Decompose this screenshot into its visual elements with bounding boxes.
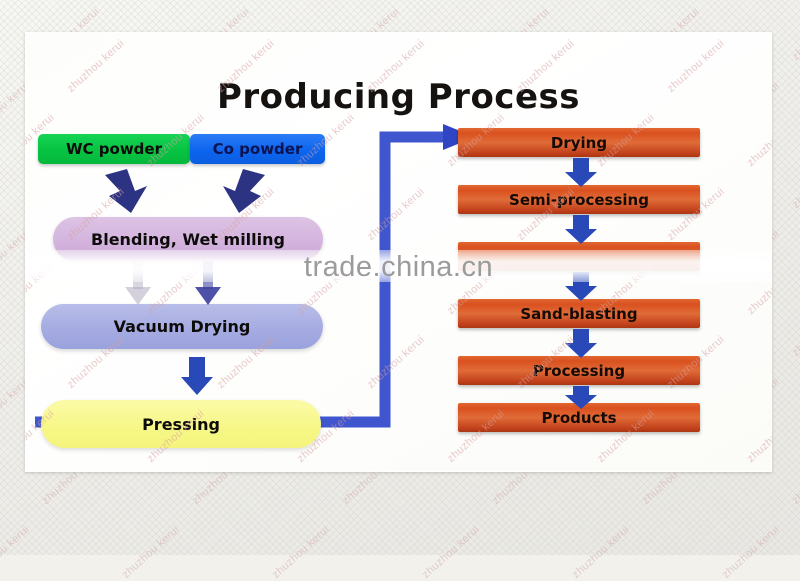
process-box-semi-processing[interactable]: Semi-processing (458, 185, 700, 214)
watermark-tile: zhuzhou kerui (270, 524, 332, 581)
watermark-tile: zhuzhou kerui (790, 302, 800, 359)
watermark-tile: zhuzhou kerui (570, 524, 632, 581)
diagram-board: Producing Process WC powder Co powder Bl… (25, 32, 772, 472)
watermark-tile: zhuzhou kerui (365, 186, 427, 243)
watermark-tile: zhuzhou kerui (790, 6, 800, 63)
watermark-tile: zhuzhou kerui (420, 524, 482, 581)
watermark-tile: zhuzhou kerui (790, 154, 800, 211)
process-box-wc-powder[interactable]: WC powder (38, 134, 190, 164)
process-box-pressing[interactable]: Pressing (41, 400, 321, 448)
process-box-drying[interactable]: Drying (458, 128, 700, 157)
page-title: Producing Process (25, 77, 772, 117)
process-box-co-powder[interactable]: Co powder (190, 134, 325, 164)
image-frame: zhuzhou keruizhuzhou keruizhuzhou keruiz… (0, 0, 800, 555)
watermark-tile: zhuzhou kerui (745, 112, 772, 169)
process-box-vacuum-drying[interactable]: Vacuum Drying (41, 304, 323, 349)
watermark-tile: zhuzhou kerui (365, 334, 427, 391)
process-box-sand-blasting[interactable]: Sand-blasting (458, 299, 700, 328)
watermark-tile: zhuzhou kerui (120, 524, 182, 581)
slanted-down-arrow-icon (101, 169, 155, 217)
watermark-tile: zhuzhou kerui (720, 524, 782, 581)
process-box-processing[interactable]: Processing (458, 356, 700, 385)
watermark-band-text: trade.china.cn (25, 251, 772, 284)
watermark-tile: zhuzhou kerui (745, 408, 772, 465)
watermark-tile: zhuzhou kerui (790, 450, 800, 507)
slanted-down-arrow-icon (215, 169, 269, 217)
watermark-tile: zhuzhou kerui (0, 524, 32, 581)
